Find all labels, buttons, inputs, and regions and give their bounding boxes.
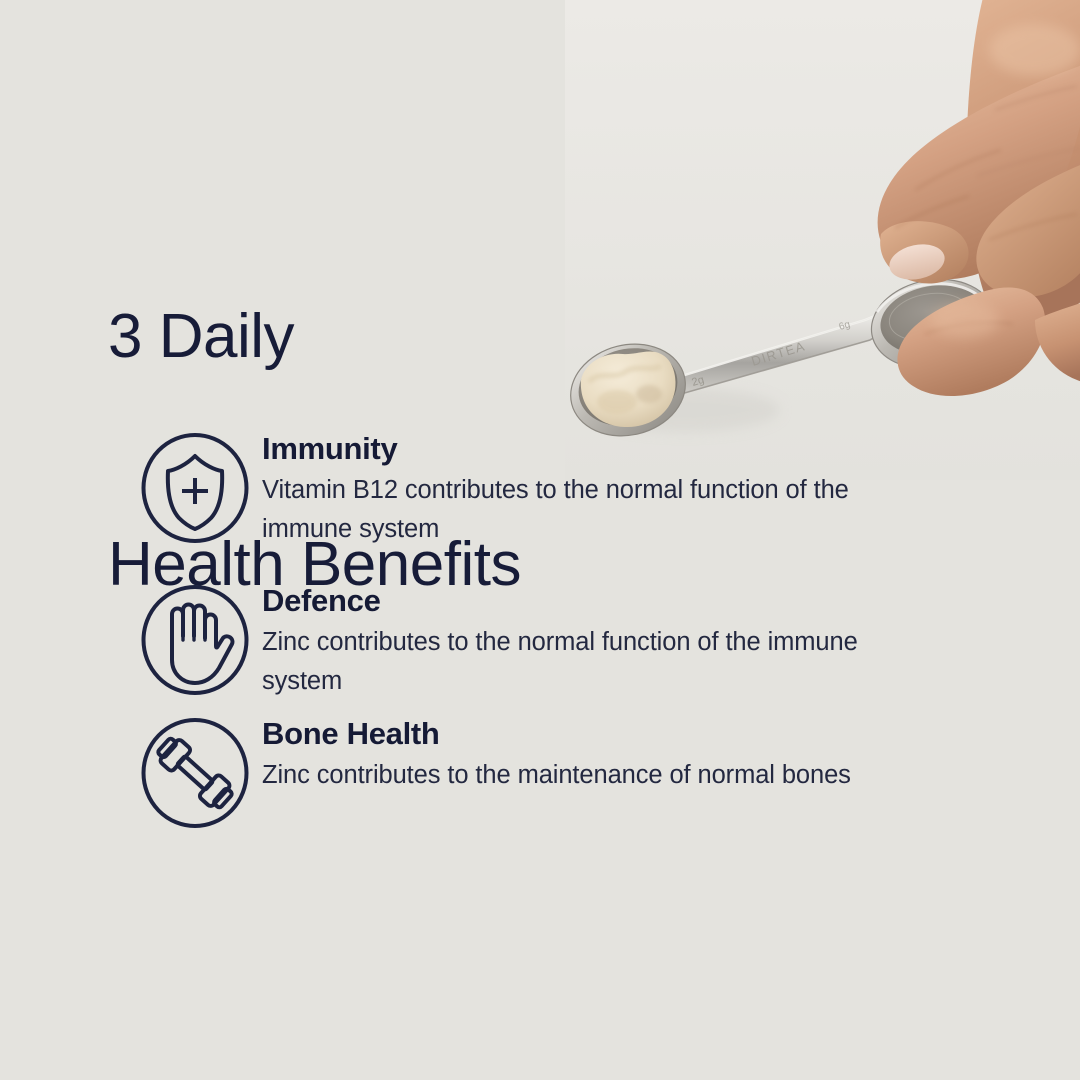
- promo-graphic: DIRTEA 2g 6g: [0, 0, 1080, 1080]
- benefit-text-immunity: Immunity Vitamin B12 contributes to the …: [262, 424, 902, 549]
- benefit-item-immunity: Immunity Vitamin B12 contributes to the …: [140, 424, 970, 549]
- benefit-description: Zinc contributes to the normal function …: [262, 623, 902, 701]
- spoon-large-bowl: [864, 270, 1001, 378]
- benefit-text-defence: Defence Zinc contributes to the normal f…: [262, 576, 902, 701]
- open-hand-icon: [140, 576, 262, 696]
- headline-line-1: 3 Daily: [108, 299, 521, 375]
- product-photo: DIRTEA 2g 6g: [565, 0, 1080, 480]
- benefit-title: Defence: [262, 582, 902, 620]
- svg-text:6g: 6g: [838, 319, 852, 333]
- hand: [878, 0, 1080, 396]
- benefit-title: Immunity: [262, 430, 902, 468]
- benefit-description: Zinc contributes to the maintenance of n…: [262, 756, 902, 795]
- svg-text:DIRTEA: DIRTEA: [749, 338, 807, 369]
- benefit-item-bone-health: Bone Health Zinc contributes to the main…: [140, 709, 970, 829]
- benefit-description: Vitamin B12 contributes to the normal fu…: [262, 471, 902, 549]
- benefit-item-defence: Defence Zinc contributes to the normal f…: [140, 576, 970, 701]
- spoon-handle: DIRTEA 2g 6g: [675, 312, 887, 394]
- benefit-title: Bone Health: [262, 715, 902, 753]
- shield-plus-icon: [140, 424, 262, 544]
- benefit-text-bone-health: Bone Health Zinc contributes to the main…: [262, 709, 902, 795]
- benefits-list: Immunity Vitamin B12 contributes to the …: [140, 424, 970, 829]
- svg-text:2g: 2g: [690, 374, 705, 389]
- dumbbell-icon: [140, 709, 262, 829]
